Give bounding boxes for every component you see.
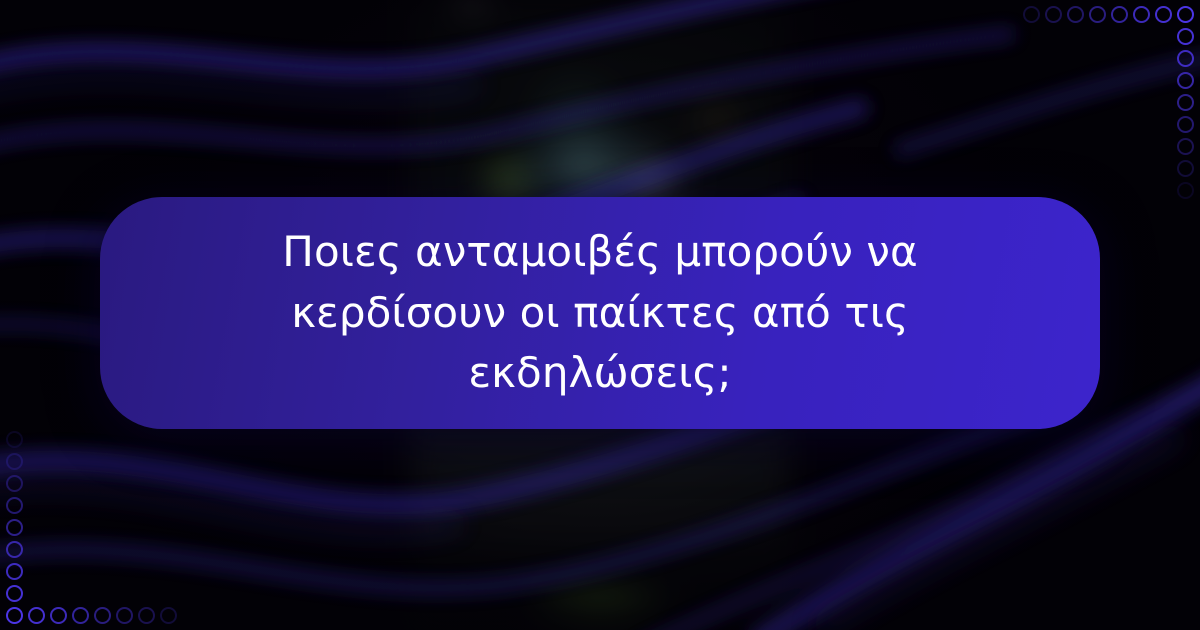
share-card-canvas: Ποιες ανταμοιβές μπορούν να κερδίσουν οι… [0,0,1200,630]
decorative-circle-icon [50,607,67,624]
decorative-circle-icon [6,475,23,492]
decorative-circle-icon [1177,94,1194,111]
decorative-circle-icon [1155,6,1172,23]
decorative-circle-icon [1023,6,1040,23]
decorative-dots-top-right [1000,0,1200,190]
decorative-circle-icon [1177,6,1194,23]
decorative-circle-icon [6,607,23,624]
decorative-circle-icon [72,607,89,624]
decorative-circle-icon [6,519,23,536]
decorative-circle-icon [1089,6,1106,23]
decorative-circle-icon [6,563,23,580]
decorative-circle-icon [116,607,133,624]
decorative-dots-bottom-left [0,440,200,630]
decorative-circle-icon [6,453,23,470]
decorative-circle-icon [1133,6,1150,23]
decorative-circle-icon [1177,182,1194,199]
decorative-circle-icon [1045,6,1062,23]
decorative-circle-icon [1177,138,1194,155]
decorative-circle-icon [1177,116,1194,133]
decorative-circle-icon [6,497,23,514]
decorative-circle-icon [1177,28,1194,45]
decorative-circle-icon [1067,6,1084,23]
decorative-circle-icon [1177,50,1194,67]
decorative-circle-icon [6,541,23,558]
decorative-circle-icon [94,607,111,624]
decorative-circle-icon [28,607,45,624]
decorative-circle-icon [138,607,155,624]
decorative-circle-icon [1177,160,1194,177]
headline-card: Ποιες ανταμοιβές μπορούν να κερδίσουν οι… [100,197,1100,429]
decorative-circle-icon [1111,6,1128,23]
decorative-circle-icon [160,607,177,624]
decorative-circle-icon [1177,72,1194,89]
decorative-circle-icon [6,431,23,448]
page-title: Ποιες ανταμοιβές μπορούν να κερδίσουν οι… [118,222,1082,405]
decorative-circle-icon [6,585,23,602]
